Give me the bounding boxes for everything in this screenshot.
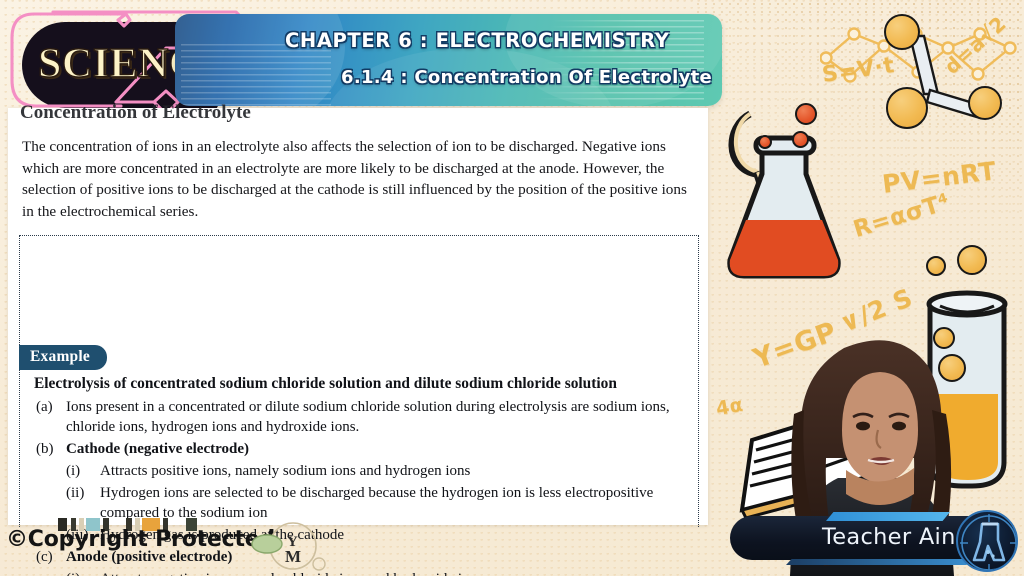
badge-accent-bottom (786, 559, 972, 565)
section-title: 6.1.4 : Concentration Of Electrolyte (341, 67, 712, 88)
bubble-red-1 (795, 103, 817, 125)
teacher-badge: Teacher Ain (730, 512, 1024, 564)
copyright-bar: ©Copyright Protected (6, 527, 275, 552)
subitem-marker: (i) (66, 569, 100, 576)
bubble-red-3 (792, 131, 809, 148)
badge-emblem-icon (958, 512, 1018, 572)
atom-ball-center (886, 87, 928, 129)
example-subitem: (i)Attracts positive ions, namely sodium… (34, 461, 694, 481)
content-panel: Concentration of Electrolyte The concent… (8, 108, 708, 525)
example-heading: Electrolysis of concentrated sodium chlo… (34, 374, 694, 395)
example-label: Example (19, 345, 107, 370)
copyright-text: ©Copyright Protected (6, 527, 275, 552)
slide-stage: S=V·td=a√2PV=nRTR=ασT⁴Y=GP∨/2 S4αH+ V(r) (0, 0, 1024, 576)
item-text: Ions present in a concentrated or dilute… (66, 397, 694, 437)
flask-icon (722, 108, 858, 286)
teacher-name: Teacher Ain (822, 524, 956, 550)
example-item: (b)Cathode (negative electrode) (34, 439, 694, 459)
obscured-heading: Concentration of Electrolyte (20, 102, 251, 124)
ym-letter-m: M (285, 547, 301, 566)
badge-accent-top (826, 512, 950, 521)
atom-ball-loose (957, 245, 987, 275)
badge-emblem (956, 510, 1018, 572)
item-marker: (a) (36, 397, 66, 437)
subitem-text: Attracts negative ions, namely chloride … (100, 569, 694, 576)
bubble-red-2 (758, 135, 772, 149)
chapter-title: CHAPTER 6 : ELECTROCHEMISTRY (285, 29, 669, 52)
subitem-text: Attracts positive ions, namely sodium io… (100, 461, 694, 481)
example-subitem: (ii)Hydrogen ions are selected to be dis… (34, 483, 694, 523)
example-item: (a)Ions present in a concentrated or dil… (34, 397, 694, 437)
intro-paragraph: The concentration of ions in an electrol… (22, 136, 698, 222)
item-marker: (b) (36, 439, 66, 459)
ym-watermark-logo: Y M (247, 522, 343, 574)
atom-ball-right (968, 86, 1002, 120)
banner-line-texture-left (181, 44, 331, 106)
bubble-small-upper (926, 256, 946, 276)
item-text: Cathode (negative electrode) (66, 439, 694, 459)
atom-ball-top (884, 14, 920, 50)
example-subitem: (i)Attracts negative ions, namely chlori… (34, 569, 694, 576)
subitem-marker: (i) (66, 461, 100, 481)
header-banner: CHAPTER 6 : ELECTROCHEMISTRY 6.1.4 : Con… (175, 14, 722, 106)
